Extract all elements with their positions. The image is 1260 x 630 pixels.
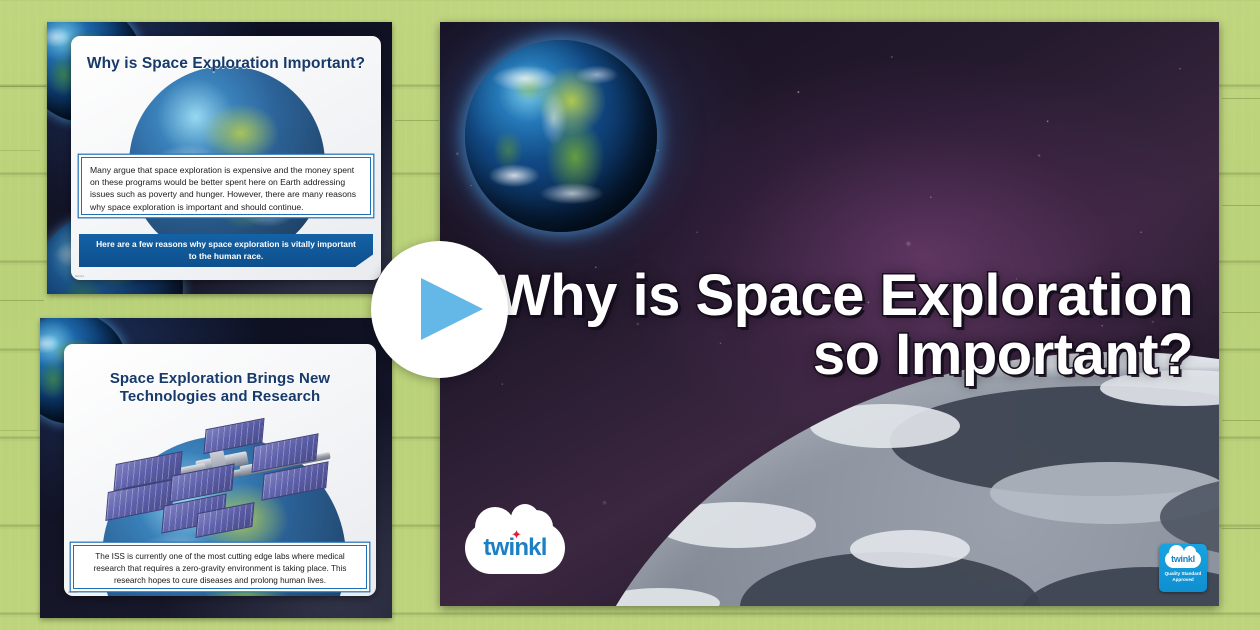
slide-title: Why is Space Exploration Important? bbox=[71, 55, 381, 73]
moon-highlight bbox=[850, 530, 970, 568]
main-preview-title: Why is Space Exploration so Important? bbox=[468, 266, 1193, 384]
badge-caption-line-1: Quality Standard bbox=[1165, 571, 1202, 576]
play-triangle-icon bbox=[421, 278, 483, 340]
moon-highlight bbox=[656, 502, 816, 548]
star-icon: ✦ bbox=[511, 528, 522, 541]
main-preview-panel[interactable]: Why is Space Exploration so Important? ✦… bbox=[440, 22, 1219, 606]
international-space-station-icon bbox=[100, 412, 348, 536]
twinkl-logo: ✦ twinkl bbox=[465, 522, 565, 574]
wood-grain-line bbox=[0, 86, 46, 87]
slide-title-line-2: Technologies and Research bbox=[120, 388, 321, 405]
slide-card: Space Exploration Brings New Technologie… bbox=[64, 344, 376, 596]
play-button[interactable] bbox=[371, 241, 508, 378]
twinkl-wordmark: twinkl bbox=[1159, 554, 1207, 564]
slide-thumbnail-2[interactable]: Space Exploration Brings New Technologie… bbox=[40, 318, 392, 618]
earth-clouds bbox=[471, 46, 652, 227]
wood-grain-line bbox=[1222, 420, 1260, 421]
screenshot-stage: Why is Space Exploration Important? Many… bbox=[0, 0, 1260, 630]
slide-thumbnail-1[interactable]: Why is Space Exploration Important? Many… bbox=[47, 22, 392, 294]
slide-title: Space Exploration Brings New Technologie… bbox=[64, 370, 376, 405]
slide-body-text: The ISS is currently one of the most cut… bbox=[73, 545, 367, 589]
wood-grain-line bbox=[0, 430, 38, 431]
wood-grain-line bbox=[1222, 312, 1260, 313]
main-title-line-2: so Important? bbox=[468, 325, 1193, 384]
earth-globe-icon bbox=[465, 40, 657, 232]
wood-grain-line bbox=[0, 300, 44, 301]
wood-grain-line bbox=[1222, 205, 1260, 206]
slide-code: twinkl bbox=[68, 590, 77, 594]
slide-code: twinkl bbox=[75, 274, 84, 278]
wood-grain-line bbox=[395, 120, 439, 121]
main-title-line-1: Why is Space Exploration bbox=[496, 263, 1193, 328]
wood-grain-line bbox=[0, 150, 40, 151]
badge-caption-line-2: Approved bbox=[1172, 577, 1193, 582]
slide-body-text: Many argue that space exploration is exp… bbox=[81, 157, 371, 215]
slide-title-line-1: Space Exploration Brings New bbox=[110, 370, 330, 387]
wood-grain-line bbox=[1222, 98, 1260, 99]
moon-highlight bbox=[810, 404, 960, 448]
wood-grain-line bbox=[1222, 528, 1260, 529]
quality-standard-approved-badge: twinkl Quality Standard Approved bbox=[1159, 544, 1207, 592]
slide-card: Why is Space Exploration Important? Many… bbox=[71, 36, 381, 280]
badge-caption: Quality Standard Approved bbox=[1159, 571, 1207, 583]
slide-banner: Here are a few reasons why space explora… bbox=[79, 234, 373, 267]
